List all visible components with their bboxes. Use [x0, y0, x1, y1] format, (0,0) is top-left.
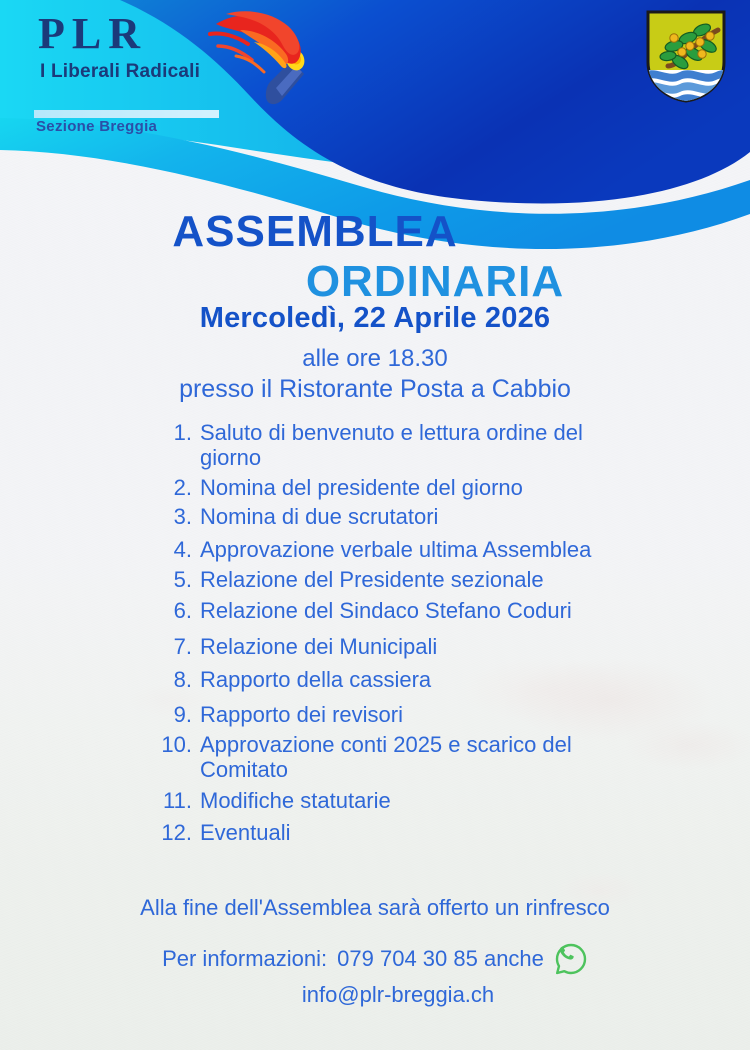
agenda-item-text: Relazione del Sindaco Stefano Coduri — [200, 599, 630, 624]
agenda-item: 8.Rapporto della cassiera — [0, 668, 750, 693]
agenda-item-text: Approvazione conti 2025 e scarico del Co… — [200, 733, 630, 782]
poster-root: PLR I Liberali Radicali Sezi — [0, 0, 750, 1050]
agenda-item: 5.Relazione del Presidente sezionale — [0, 568, 750, 593]
event-time: alle ore 18.30 — [0, 345, 750, 373]
poster-content: ASSEMBLEA ORDINARIA Mercoledì, 22 Aprile… — [0, 0, 750, 1050]
agenda-item-text: Nomina di due scrutatori — [200, 505, 630, 530]
agenda-item-number: 2. — [148, 476, 200, 501]
whatsapp-glyph — [554, 942, 588, 976]
agenda-item-text: Rapporto della cassiera — [200, 668, 630, 693]
contact-phone: 079 704 30 85 anche — [337, 946, 544, 972]
agenda-list: 1.Saluto di benvenuto e lettura ordine d… — [0, 415, 750, 846]
agenda-item: 7.Relazione dei Municipali — [0, 635, 750, 660]
agenda-item: 2.Nomina del presidente del giorno — [0, 476, 750, 501]
agenda-item-text: Modifiche statutarie — [200, 789, 630, 814]
agenda-item-number: 3. — [148, 505, 200, 530]
agenda-item: 12.Eventuali — [0, 821, 750, 846]
page-title-line1: ASSEMBLEA — [0, 207, 750, 257]
agenda-item-number: 6. — [148, 599, 200, 624]
agenda-item: 10.Approvazione conti 2025 e scarico del… — [0, 733, 750, 782]
contact-phone-row: Per informazioni: 079 704 30 85 anche — [0, 942, 750, 976]
agenda-item-number: 5. — [148, 568, 200, 593]
agenda-item-number: 11. — [148, 789, 200, 814]
agenda-item-text: Eventuali — [200, 821, 630, 846]
contact-info: Per informazioni: 079 704 30 85 anche in… — [0, 942, 750, 1008]
agenda-item: 9.Rapporto dei revisori — [0, 703, 750, 728]
agenda-item-text: Saluto di benvenuto e lettura ordine del… — [200, 421, 630, 470]
agenda-item-number: 4. — [148, 538, 200, 563]
agenda-item-number: 10. — [148, 733, 200, 758]
agenda-item-text: Relazione del Presidente sezionale — [200, 568, 630, 593]
agenda-item-text: Relazione dei Municipali — [200, 635, 630, 660]
agenda-item-number: 7. — [148, 635, 200, 660]
agenda-item-number: 12. — [148, 821, 200, 846]
agenda-item: 4.Approvazione verbale ultima Assemblea — [0, 538, 750, 563]
refreshment-note: Alla fine dell'Assemblea sarà offerto un… — [0, 895, 750, 921]
event-venue: presso il Ristorante Posta a Cabbio — [0, 375, 750, 404]
whatsapp-icon[interactable] — [554, 942, 588, 976]
agenda-item-number: 9. — [148, 703, 200, 728]
page-title-line2: ORDINARIA — [0, 257, 750, 307]
agenda-item: 3.Nomina di due scrutatori — [0, 505, 750, 530]
agenda-item-number: 1. — [148, 421, 200, 446]
agenda-item: 6.Relazione del Sindaco Stefano Coduri — [0, 599, 750, 624]
agenda-item-text: Rapporto dei revisori — [200, 703, 630, 728]
event-date: Mercoledì, 22 Aprile 2026 — [0, 302, 750, 335]
agenda-item-text: Approvazione verbale ultima Assemblea — [200, 538, 630, 563]
contact-label: Per informazioni: — [162, 946, 327, 972]
agenda-item-number: 8. — [148, 668, 200, 693]
agenda-item-text: Nomina del presidente del giorno — [200, 476, 630, 501]
agenda-item: 1.Saluto di benvenuto e lettura ordine d… — [0, 421, 750, 470]
contact-email[interactable]: info@plr-breggia.ch — [0, 982, 750, 1008]
agenda-item: 11.Modifiche statutarie — [0, 789, 750, 814]
